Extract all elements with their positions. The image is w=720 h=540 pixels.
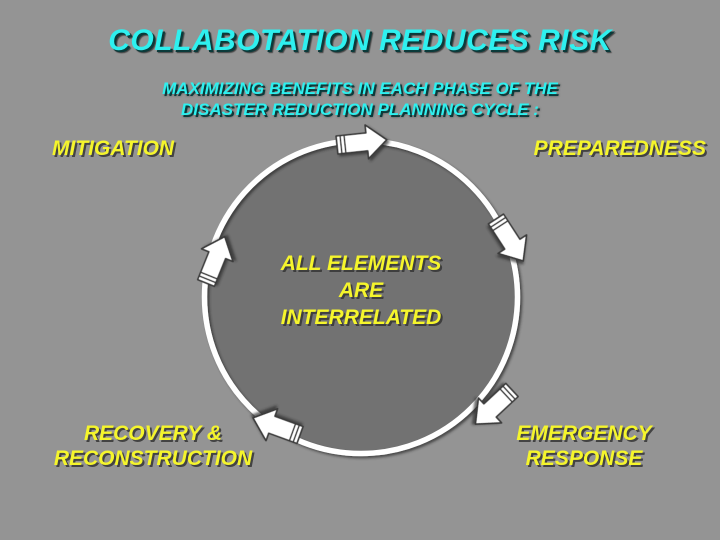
disaster-cycle-diagram: [0, 0, 720, 540]
cycle-circle-fill: [207, 143, 515, 451]
slide-canvas: COLLABOTATION REDUCES RISK MAXIMIZING BE…: [0, 0, 720, 540]
